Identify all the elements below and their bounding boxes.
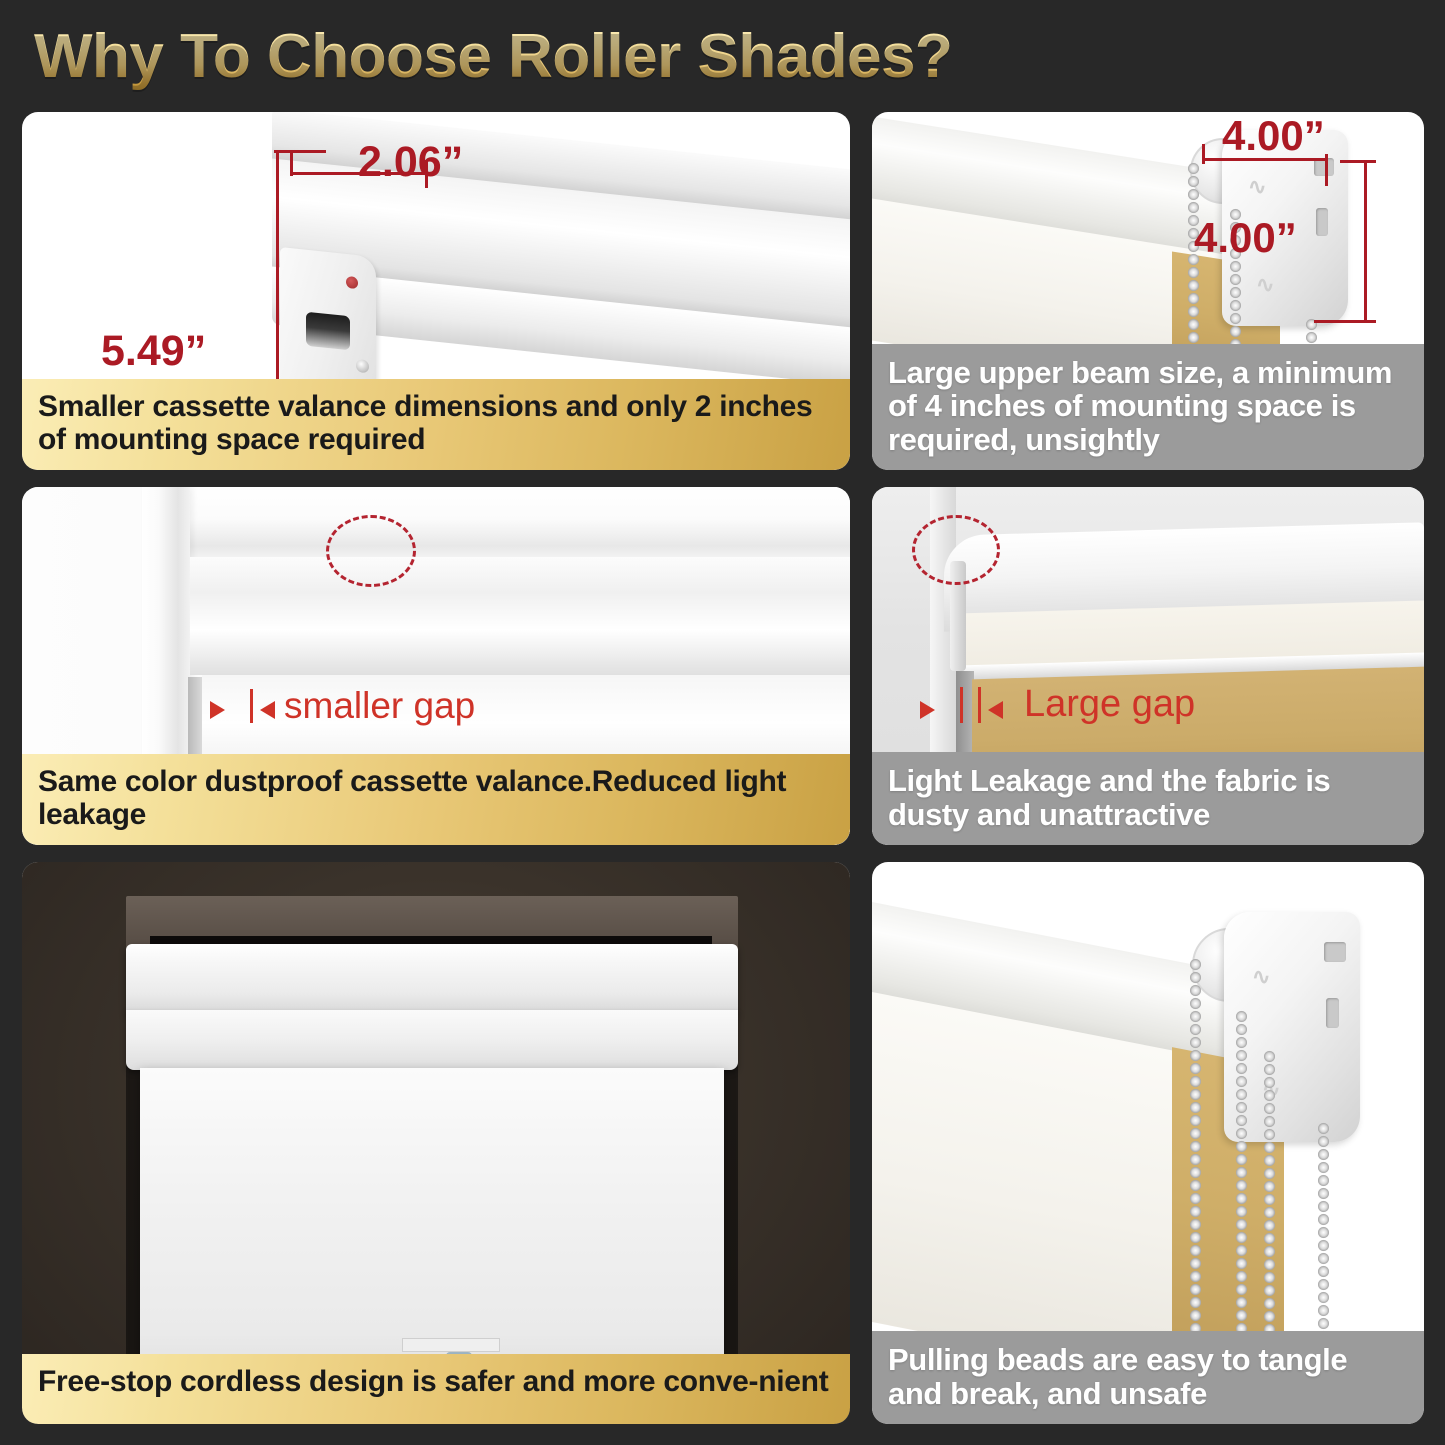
height-dimension-label: 5.49” [101, 330, 206, 373]
bead-chain-left [1190, 958, 1201, 1354]
bracket-notch-top [1324, 942, 1346, 962]
large-gap-label: Large gap [1024, 685, 1195, 723]
bead-chain-mid-2 [1264, 1050, 1275, 1354]
panel-caption-free-stop-cordless: Free-stop cordless design is safer and m… [22, 1354, 850, 1424]
panel-caption-cassette-valance-dimensions: Smaller cassette valance dimensions and … [22, 379, 850, 470]
beam-height-tick-top [1340, 160, 1376, 163]
bracket-emboss-icon: ∿ [1248, 174, 1266, 200]
comparison-grid: 2.06” 5.49” Smaller cassette valance dim… [0, 0, 1445, 1445]
bracket-emboss-icon: ∿ [1252, 964, 1270, 990]
gap-arrow-right-icon [210, 701, 225, 719]
panel-cassette-valance-dimensions[interactable]: 2.06” 5.49” Smaller cassette valance dim… [22, 112, 850, 470]
gap-arrow-right-icon [920, 701, 935, 719]
end-cap-red-screw [346, 276, 358, 289]
panel-pulling-beads[interactable]: ∿ ∿ Pulling beads are easy to tangle and… [872, 862, 1424, 1424]
panel-light-leakage[interactable]: Large gap Light Leakage and the fabric i… [872, 487, 1424, 845]
panel-caption-light-leakage: Light Leakage and the fabric is dusty an… [872, 752, 1424, 845]
gap-marker-line-b [978, 687, 981, 723]
beam-width-tick-left [1202, 144, 1205, 164]
beam-height-dim-line [1364, 160, 1367, 322]
panel-caption-large-upper-beam: Large upper beam size, a minimum of 4 in… [872, 344, 1424, 470]
panel-dustproof-cassette-valance[interactable]: smaller gap Same color dustproof cassett… [22, 487, 850, 845]
bracket-notch-mid [1326, 998, 1339, 1028]
cassette-valance-top [126, 944, 738, 1014]
bracket-notch-mid [1316, 208, 1328, 236]
panel-large-upper-beam[interactable]: ∿ ∿ 4.00” 4.00” Large upper beam size, a… [872, 112, 1424, 470]
highlight-ellipse-icon [912, 515, 1000, 585]
end-cap-screw-dot [356, 359, 369, 373]
panel-caption-dustproof-cassette-valance: Same color dustproof cassette valance.Re… [22, 754, 850, 845]
bead-chain-left [1188, 162, 1199, 372]
gap-arrow-left-icon [988, 701, 1003, 719]
cassette-valance-bottom [126, 1010, 738, 1070]
cassette-valance [190, 557, 850, 675]
bead-chain-mid [1236, 1010, 1247, 1354]
brand-tag [402, 1338, 500, 1352]
end-cap-slot [306, 312, 350, 351]
bracket-emboss-icon-2: ∿ [1256, 272, 1274, 298]
panel-caption-pulling-beads: Pulling beads are easy to tangle and bre… [872, 1331, 1424, 1424]
panel-free-stop-cordless[interactable]: Free-stop cordless design is safer and m… [22, 862, 850, 1424]
width-dim-extension-top [274, 150, 326, 153]
width-dim-tick-left [290, 150, 293, 176]
beam-width-label: 4.00” [1222, 115, 1325, 157]
beam-width-tick-right [1325, 154, 1328, 186]
gap-marker-line [250, 689, 253, 723]
gap-marker-line-a [960, 687, 963, 723]
bead-chain-right [1318, 1122, 1329, 1354]
width-dimension-label: 2.06” [358, 141, 463, 184]
gap-arrow-left-icon [260, 701, 275, 719]
smaller-gap-label: smaller gap [284, 687, 475, 724]
beam-height-tick-bottom [1314, 320, 1376, 323]
window-frame-top [142, 487, 850, 559]
shade-fabric [140, 1068, 724, 1380]
beam-height-label: 4.00” [1194, 217, 1297, 259]
highlight-ellipse-icon [326, 515, 416, 587]
free-stop-cordless-photo [22, 862, 850, 1424]
